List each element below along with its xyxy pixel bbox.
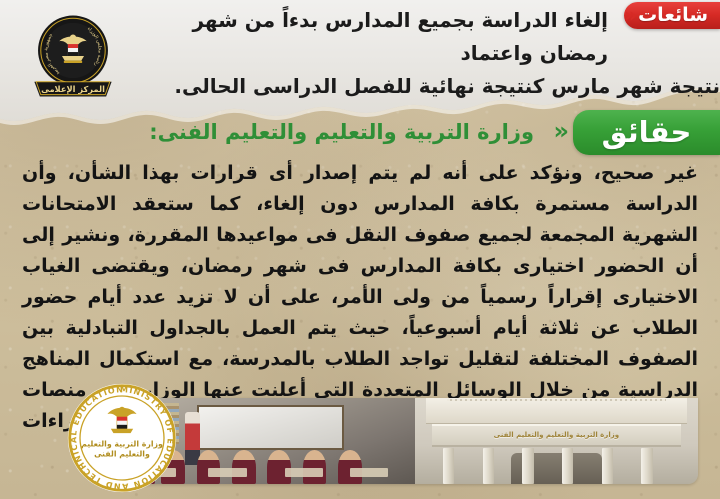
rumor-headline: إلغاء الدراسة بجميع المدارس بدءاً من شهر… bbox=[120, 4, 608, 103]
bottom-photo-strip: وزارة التربية والتعليم والتعليم الفنى bbox=[120, 398, 698, 484]
svg-text:المركز الإعلامى: المركز الإعلامى bbox=[41, 84, 105, 95]
svg-text:والتعليم الفنى: والتعليم الفنى bbox=[94, 450, 150, 459]
rumor-headline-line1: إلغاء الدراسة بجميع المدارس بدءاً من شهر… bbox=[192, 8, 608, 65]
cabinet-media-center-logo: جمهورية مصر العربية رئاسة مجلس الوزراء ا… bbox=[27, 10, 119, 102]
student-figure bbox=[303, 450, 327, 484]
facts-source-label: وزارة التربية والتعليم والتعليم الفنى: bbox=[149, 117, 534, 147]
teacher-figure bbox=[185, 412, 200, 465]
facts-badge: حقائق bbox=[573, 110, 720, 155]
student-figure bbox=[197, 450, 221, 484]
student-figure bbox=[267, 450, 291, 484]
infographic-root: جمهورية مصر العربية رئاسة مجلس الوزراء ا… bbox=[0, 0, 720, 499]
rumor-badge: شائعات bbox=[624, 2, 720, 29]
facade-column bbox=[602, 448, 613, 484]
student-figure bbox=[232, 450, 256, 484]
rumor-headline-line2: نتيجة شهر مارس كنتيجة نهائية للفصل الدرا… bbox=[120, 70, 720, 103]
school-desk bbox=[350, 468, 388, 477]
facade-column bbox=[641, 448, 652, 484]
facade-column bbox=[483, 448, 494, 484]
facade-inscription-band: وزارة التربية والتعليم والتعليم الفنى bbox=[432, 424, 681, 447]
facts-chevron-icon: « bbox=[553, 119, 565, 143]
svg-text:وزارة التربية والتعليم: وزارة التربية والتعليم bbox=[81, 439, 163, 448]
facade-column bbox=[562, 448, 573, 484]
ministry-building-photo: وزارة التربية والتعليم والتعليم الفنى bbox=[415, 398, 698, 484]
balustrade bbox=[447, 399, 666, 401]
building-roof bbox=[426, 398, 687, 424]
facade-column bbox=[443, 448, 454, 484]
student-figure bbox=[338, 450, 362, 484]
school-desk bbox=[208, 468, 246, 477]
facade-inscription: وزارة التربية والتعليم والتعليم الفنى bbox=[494, 431, 619, 439]
facade-column bbox=[522, 448, 533, 484]
whiteboard bbox=[197, 405, 344, 450]
school-desk bbox=[285, 468, 323, 477]
ministry-of-education-seal: وزارة التربية والتعليم والتعليم الفنى MI… bbox=[66, 382, 178, 494]
rumor-chevron-icon: « bbox=[624, 5, 634, 25]
